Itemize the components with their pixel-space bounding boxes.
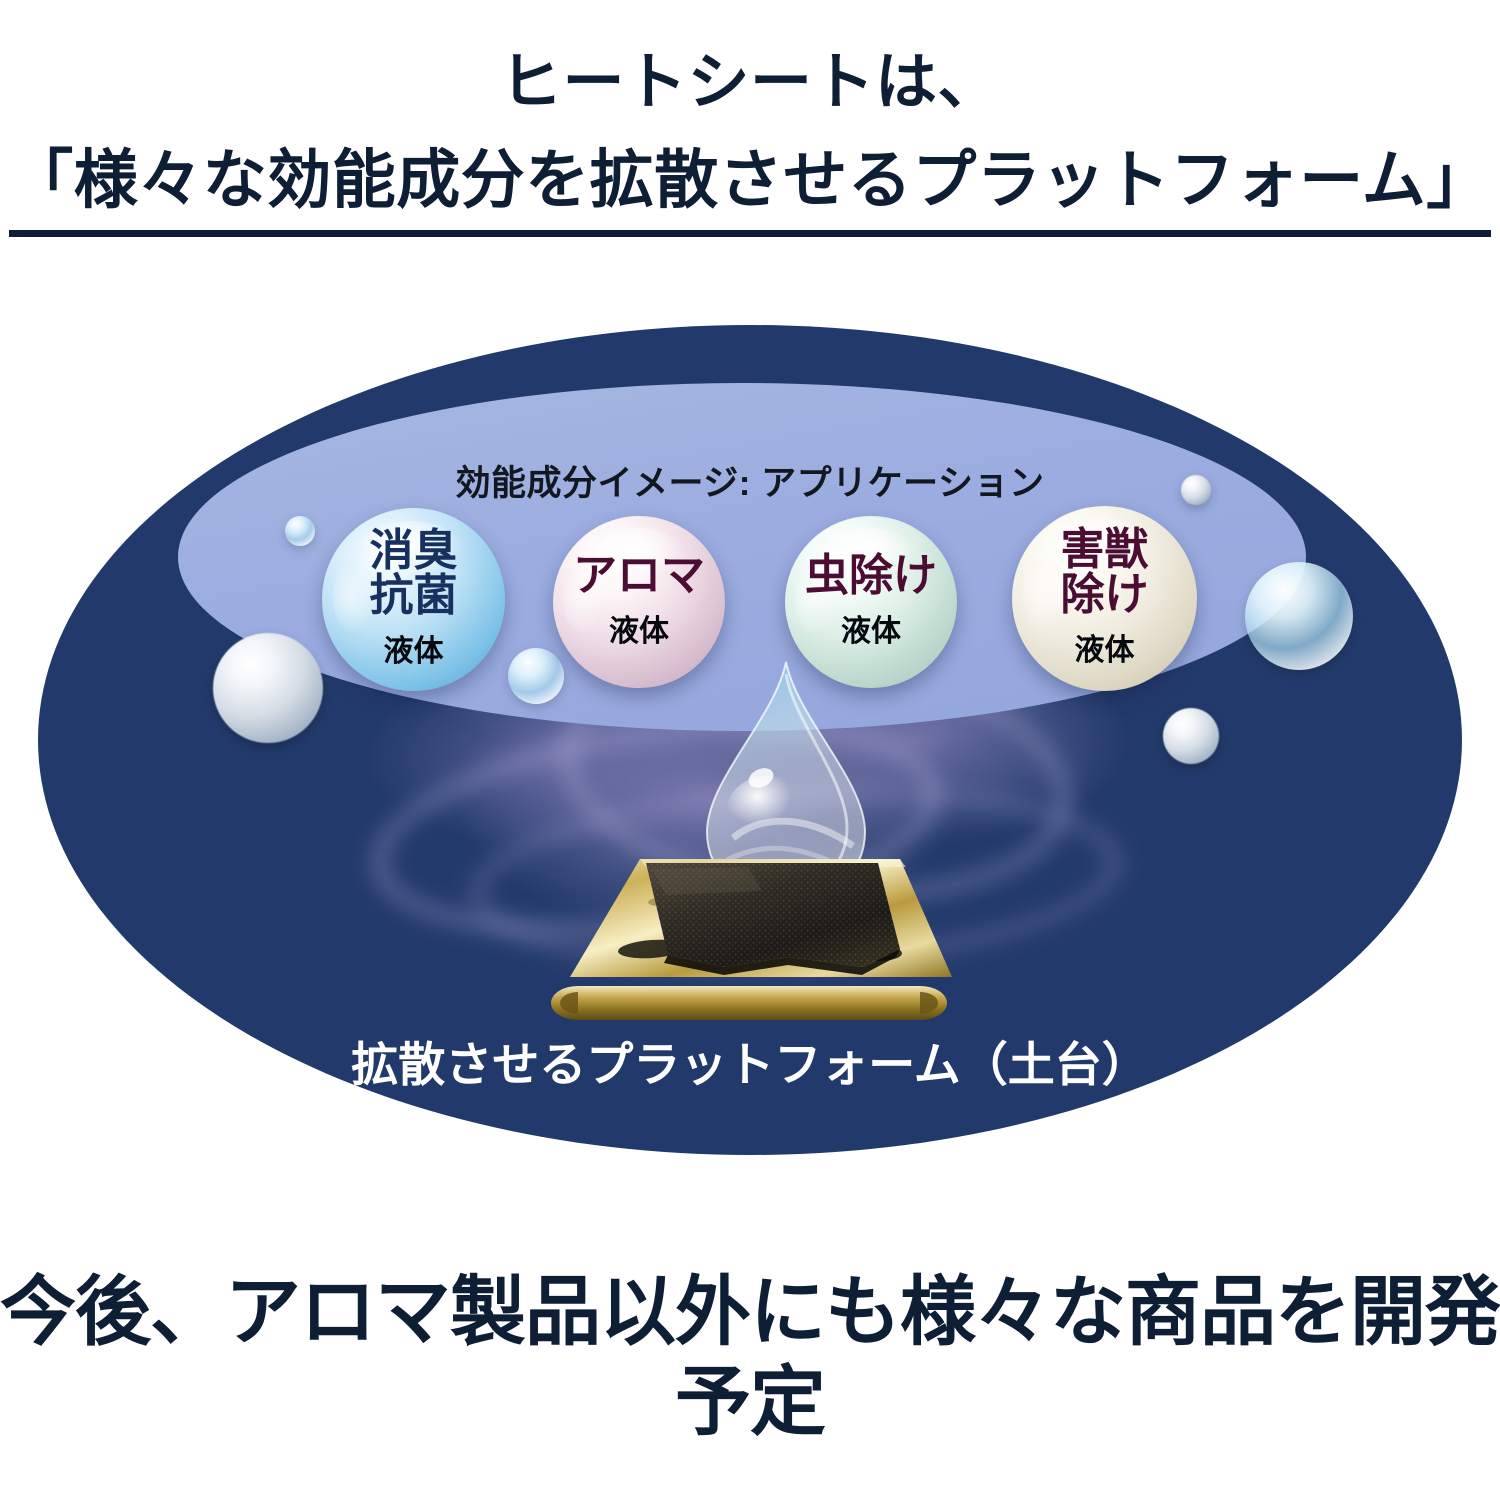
bubble-title: 害獣 除け — [1061, 528, 1149, 618]
bubble-subtitle: 液体 — [384, 626, 444, 670]
platform-caption: 拡散させるプラットフォーム（土台） — [0, 1026, 1500, 1095]
section-label: 効能成分イメージ: アプリケーション — [0, 455, 1500, 506]
poster-canvas: ヒートシートは、 「様々な効能成分を拡散させるプラットフォーム」 効能成分イメー… — [0, 0, 1500, 1500]
headline-line-2: 「様々な効能成分を拡散させるプラットフォーム」 — [9, 132, 1491, 237]
bubble-subtitle: 液体 — [841, 606, 901, 650]
page-title: ヒートシートは、 「様々な効能成分を拡散させるプラットフォーム」 — [0, 40, 1500, 237]
footer-message: 今後、アロマ製品以外にも様々な商品を開発予定 — [0, 1268, 1500, 1448]
bubble-title: 消臭 抗菌 — [370, 529, 458, 619]
bubble-subtitle: 液体 — [1075, 625, 1135, 669]
ingredient-bubble-insect-repellent[interactable]: 虫除け 液体 — [785, 516, 957, 688]
bubble-title: 虫除け — [805, 554, 937, 599]
ingredient-bubble-deodorant-antibacterial[interactable]: 消臭 抗菌 液体 — [322, 508, 505, 691]
ingredient-bubble-aroma[interactable]: アロマ 液体 — [553, 516, 725, 688]
bubble-title: アロマ — [573, 554, 705, 599]
headline-line-1: ヒートシートは、 — [0, 40, 1500, 126]
bubble-subtitle: 液体 — [609, 606, 669, 650]
ingredient-bubble-pest-repellent[interactable]: 害獣 除け 液体 — [1012, 506, 1197, 691]
heat-sheet-product-image — [548, 845, 968, 1030]
